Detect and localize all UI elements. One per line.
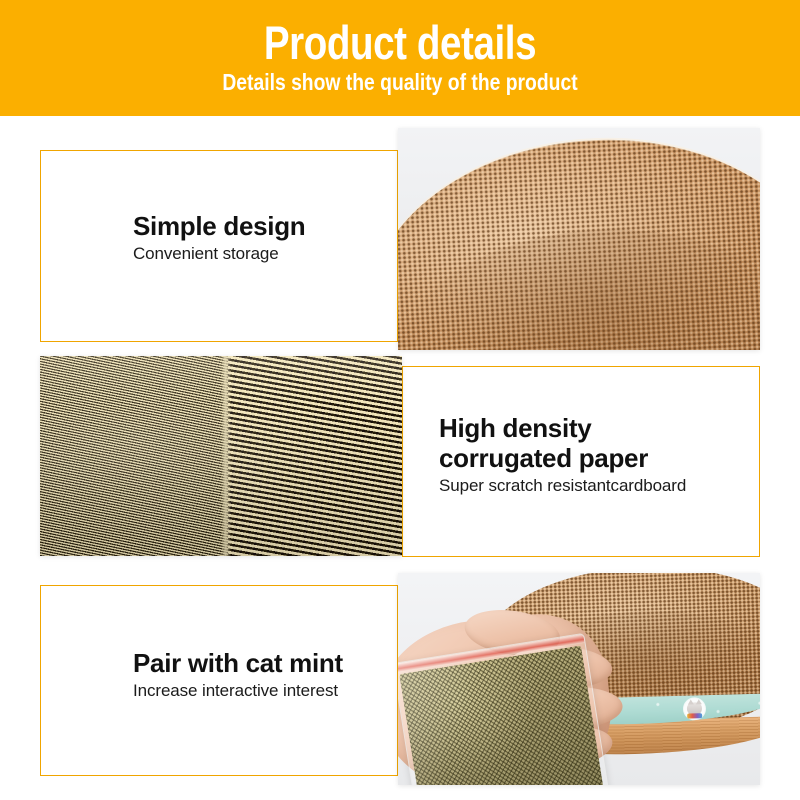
feature-card-high-density: High density corrugated paper Super scra… xyxy=(402,366,760,557)
photo-content xyxy=(398,128,760,350)
product-photo-bowl-top xyxy=(398,128,760,350)
product-photo-corrugated-closeup xyxy=(40,356,402,556)
feature-title: High density corrugated paper xyxy=(439,413,759,473)
photo-content xyxy=(398,573,760,785)
feature-title: Pair with cat mint xyxy=(133,648,397,678)
feature-subtitle: Super scratch resistantcardboard xyxy=(439,475,759,497)
feature-card-text: Simple design Convenient storage xyxy=(133,211,397,265)
page-title: Product details xyxy=(72,17,728,69)
feature-card-simple-design: Simple design Convenient storage xyxy=(40,150,398,342)
feature-card-cat-mint: Pair with cat mint Increase interactive … xyxy=(40,585,398,776)
feature-card-text: Pair with cat mint Increase interactive … xyxy=(133,648,397,702)
page-subtitle: Details show the quality of the product xyxy=(64,68,736,96)
feature-subtitle: Increase interactive interest xyxy=(133,680,397,702)
product-photo-catnip-in-hand xyxy=(398,573,760,785)
photo-shading xyxy=(40,356,402,556)
feature-title: Simple design xyxy=(133,211,397,241)
cat-face-icon xyxy=(684,698,706,720)
feature-card-text: High density corrugated paper Super scra… xyxy=(439,413,759,497)
header-banner: Product details Details show the quality… xyxy=(0,0,800,116)
cat-ear-left-icon xyxy=(687,699,693,704)
cat-collar xyxy=(687,713,702,718)
product-details-page: Product details Details show the quality… xyxy=(0,0,800,800)
cat-ear-right-icon xyxy=(695,699,701,704)
bag-gloss-highlight xyxy=(398,634,608,785)
photo-content xyxy=(40,356,402,556)
feature-subtitle: Convenient storage xyxy=(133,243,397,265)
